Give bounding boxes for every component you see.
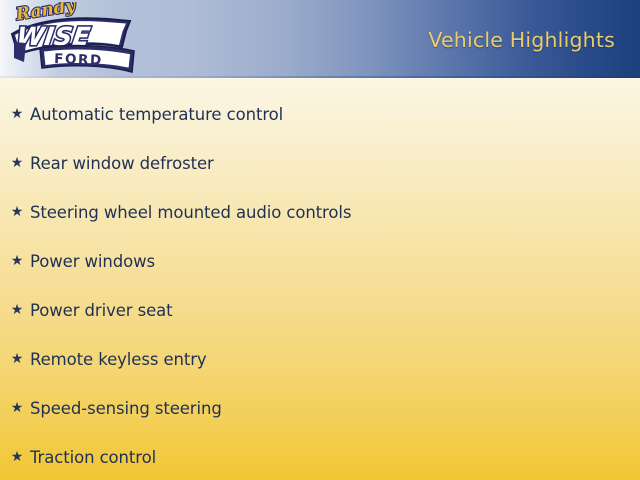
star-icon: ★ (9, 286, 25, 335)
list-item: ★ Speed-sensing steering (0, 384, 640, 433)
svg-text:FORD: FORD (54, 51, 103, 69)
vehicle-highlights-slide: WISE FORD Randy Vehicle Highlights (0, 0, 640, 480)
highlight-label: Traction control (30, 448, 156, 467)
list-item: ★ Remote keyless entry (0, 335, 640, 384)
highlight-label: Remote keyless entry (30, 350, 207, 369)
list-item: ★ Power driver seat (0, 286, 640, 335)
list-item: ★ Rear window defroster (0, 139, 640, 188)
header-divider (0, 76, 640, 78)
list-item: ★ Steering wheel mounted audio controls (0, 188, 640, 237)
randy-wise-ford-logo: WISE FORD Randy (4, 2, 140, 78)
page-title: Vehicle Highlights (428, 28, 615, 52)
highlight-label: Steering wheel mounted audio controls (30, 203, 351, 222)
header-banner: WISE FORD Randy Vehicle Highlights (0, 0, 640, 78)
list-item: ★ Power windows (0, 237, 640, 286)
highlight-label: Rear window defroster (30, 154, 214, 173)
star-icon: ★ (9, 237, 25, 286)
highlight-label: Power windows (30, 252, 155, 271)
highlight-label: Speed-sensing steering (30, 399, 222, 418)
star-icon: ★ (9, 188, 25, 237)
vehicle-highlights-list: ★ Automatic temperature control ★ Rear w… (0, 90, 640, 480)
highlight-label: Automatic temperature control (30, 105, 283, 124)
highlight-label: Power driver seat (30, 301, 173, 320)
star-icon: ★ (9, 384, 25, 433)
star-icon: ★ (9, 139, 25, 188)
star-icon: ★ (9, 90, 25, 139)
list-item: ★ Traction control (0, 433, 640, 480)
star-icon: ★ (9, 433, 25, 480)
star-icon: ★ (9, 335, 25, 384)
list-item: ★ Automatic temperature control (0, 90, 640, 139)
